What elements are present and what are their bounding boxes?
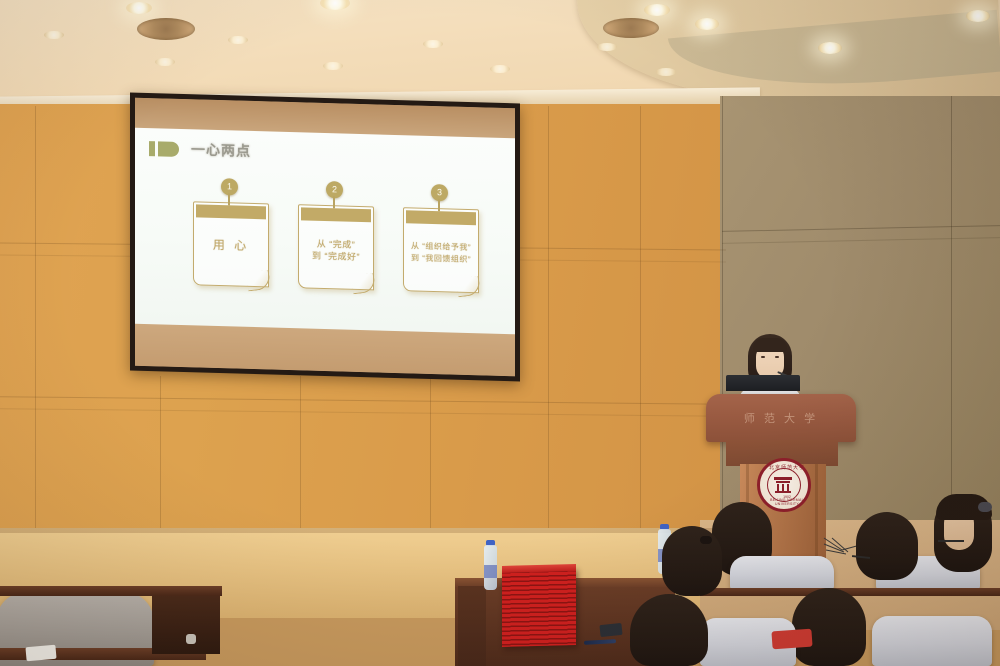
wall-panel-seam [951,96,952,536]
card-number-badge: 2 [326,181,343,198]
ceiling-downlight [126,2,152,14]
ceiling-downlight [695,18,719,30]
presentation-slide: 一心两点 1 用 心 2 [135,128,515,335]
certificate-folder-stack [502,567,576,647]
podium-engraved-text: 师 范 大 学 [706,410,856,426]
chair-gap-shadow [152,596,220,654]
card-sheet-header [406,210,476,225]
ceiling-downlight [323,62,343,70]
audience-chair-back [872,616,992,666]
ceiling-air-vent [137,18,195,40]
chair-armrest [186,634,196,644]
card-text-block: 从 “完成” 到 “完成好” [301,237,371,263]
audience-head [662,526,722,596]
audience-head [630,594,708,666]
bottle-label [484,565,497,578]
ceiling-downlight [423,40,443,48]
audience-red-item [771,629,812,650]
slide-card: 2 从 “完成” 到 “完成好” [298,196,372,288]
audience-hair-tie [978,502,992,512]
ceiling-air-vent [603,18,659,38]
ceiling-downlight [228,36,248,44]
card-sheet-header [301,207,371,222]
ceiling-downlight [644,4,670,16]
chair-row-rail [0,586,222,596]
wall-panel-seam [35,106,36,531]
speaker-eye [761,356,765,358]
slide-card: 1 用 心 [193,193,267,285]
card-text-line: 用 心 [196,238,266,252]
slide-logo-icon [149,141,179,157]
audience-head [856,512,918,580]
eyeglasses-icon [938,540,964,542]
ceiling-downlight [155,58,175,66]
audience-hair-clip [700,536,712,544]
lecture-hall-scene: 一心两点 1 用 心 2 [0,0,1000,666]
card-sheet-header [196,204,266,219]
wall-panel-seam [722,96,723,536]
audience-chair-back [730,556,834,590]
card-sheet: 从 “组织给予我” 到 “我回馈组织” [403,207,479,293]
slide-card-group: 1 用 心 2 从 [135,180,515,321]
floor-shadow [0,528,730,533]
projection-screen-surface: 一心两点 1 用 心 2 [135,98,515,377]
card-number-badge: 3 [431,184,448,201]
ceiling-downlight [490,65,510,73]
ceiling-downlight [966,10,990,22]
card-text-block: 从 “组织给予我” 到 “我回馈组织” [406,240,476,266]
slide-card: 3 从 “组织给予我” 到 “我回馈组织” [403,199,477,291]
ceiling-downlight [44,31,64,39]
ceiling-downlight [597,43,617,51]
university-emblem: 北京师范大学 1902 BEIJING NORMAL UNIVERSITY [757,458,811,512]
podium-laptop [726,375,800,391]
wall-panel-seam [640,106,641,531]
ceiling-downlight [656,68,676,76]
podium-top: 师 范 大 学 [706,394,856,442]
card-page-curl-icon [351,273,376,294]
ceiling-downlight [818,42,842,54]
speaker-hair-fringe [753,338,787,352]
card-page-curl-icon [246,270,271,291]
card-number-badge: 1 [221,178,238,195]
card-text-line: 到 “完成好” [301,249,371,263]
paper-on-chair [25,645,56,662]
speaker-eye [775,356,779,358]
card-text-line: 到 “我回馈组织” [406,252,476,266]
wall-panel-seam [430,376,431,531]
card-sheet: 用 心 [193,201,269,287]
card-sheet: 从 “完成” 到 “完成好” [298,204,374,290]
front-table-leg [458,586,486,666]
audience-head [792,588,866,666]
slide-title: 一心两点 [191,139,251,161]
water-bottle [484,540,497,590]
card-page-curl-icon [456,276,481,297]
projection-screen: 一心两点 1 用 心 2 [130,93,520,382]
wall-panel-seam [160,376,161,531]
wall-panel-seam [548,106,549,531]
emblem-english-name: BEIJING NORMAL UNIVERSITY [760,498,814,506]
emblem-gate-icon [774,477,792,493]
mobile-phone [599,623,622,637]
